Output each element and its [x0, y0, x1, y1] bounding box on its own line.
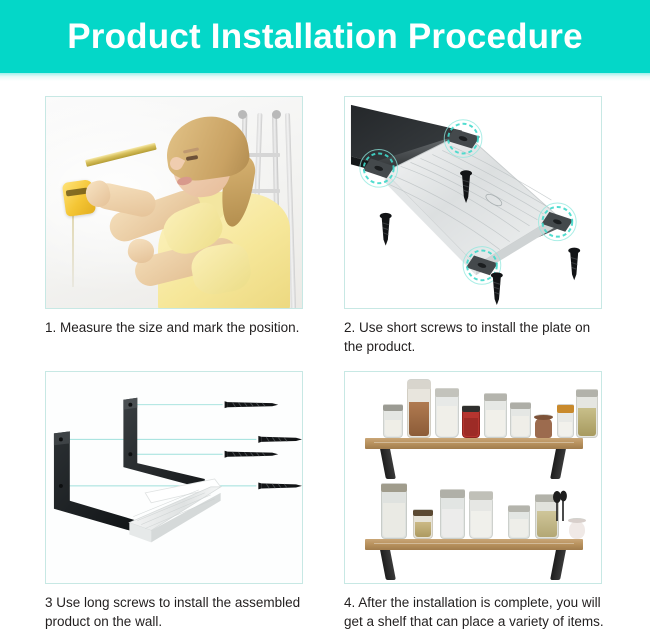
- step-item-4: 4. After the installation is complete, y…: [344, 371, 604, 631]
- step-item-2: 2. Use short screws to install the plate…: [344, 96, 604, 356]
- steps-grid: 1. Measure the size and mark the positio…: [0, 88, 650, 625]
- shelf-bracket-top-left: [380, 449, 396, 479]
- shelf-board-bottom: [365, 539, 583, 550]
- step-caption-2: 2. Use short screws to install the plate…: [344, 318, 604, 356]
- page-title: Product Installation Procedure: [67, 19, 583, 54]
- shelf-bracket-top-right: [550, 449, 566, 479]
- step-item-3: 3 Use long screws to install the assembl…: [45, 371, 305, 631]
- page-header: Product Installation Procedure: [0, 0, 650, 73]
- shelf-board-top: [365, 438, 583, 449]
- step-caption-1: 1. Measure the size and mark the positio…: [45, 318, 305, 337]
- shelf-bracket-bottom-right: [550, 550, 566, 580]
- bracket-assembly-illustration: [46, 372, 302, 583]
- shelf-bracket-bottom-left: [380, 550, 396, 580]
- plate-assembly-illustration: [345, 97, 601, 308]
- step-caption-3: 3 Use long screws to install the assembl…: [45, 593, 305, 631]
- step-item-1: 1. Measure the size and mark the positio…: [45, 96, 305, 337]
- utensils-icon: [551, 487, 569, 523]
- woman-measuring-wall-photo: [45, 96, 303, 309]
- header-gradient-divider: [0, 73, 650, 81]
- assembled-bracket-long-screws-diagram: [45, 371, 303, 584]
- tape-measure-marking-line: [72, 211, 74, 287]
- step-caption-4: 4. After the installation is complete, y…: [344, 593, 604, 631]
- plate-short-screws-diagram: [344, 96, 602, 309]
- long-screw-group: [225, 401, 302, 489]
- finished-shelves-with-jars-photo: [344, 371, 602, 584]
- installation-procedure-page: Product Installation Procedure: [0, 0, 650, 625]
